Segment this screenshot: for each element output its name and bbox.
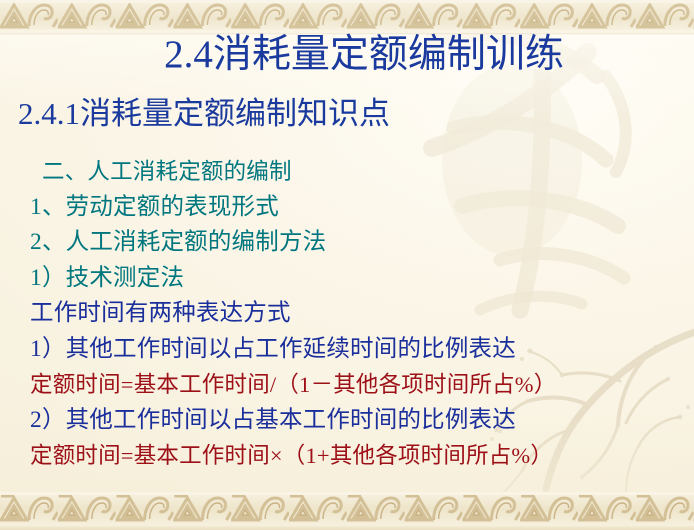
slide-canvas: 2.4消耗量定额编制训练 2.4.1消耗量定额编制知识点 二、人工消耗定额的编制…	[0, 0, 694, 530]
page-title: 2.4消耗量定额编制训练	[0, 31, 694, 79]
body-line: 1）其他工作时间以占工作延续时间的比例表达	[30, 332, 670, 368]
body-line: 2、人工消耗定额的编制方法	[30, 225, 670, 261]
body-line: 2）其他工作时间以占基本工作时间的比例表达	[30, 403, 670, 439]
page-subtitle: 2.4.1消耗量定额编制知识点	[18, 94, 390, 134]
body-line: 二、人工消耗定额的编制	[30, 154, 670, 190]
body-content-list: 二、人工消耗定额的编制 1、劳动定额的表现形式 2、人工消耗定额的编制方法 1）…	[30, 154, 670, 474]
body-line: 定额时间=基本工作时间/（1－其他各项时间所占%）	[30, 367, 670, 403]
body-line: 1、劳动定额的表现形式	[30, 190, 670, 226]
body-line: 1）技术测定法	[30, 261, 670, 297]
body-line: 定额时间=基本工作时间×（1+其他各项时间所占%）	[30, 438, 670, 474]
body-line: 工作时间有两种表达方式	[30, 296, 670, 332]
bottom-edge-rule	[0, 526, 694, 530]
